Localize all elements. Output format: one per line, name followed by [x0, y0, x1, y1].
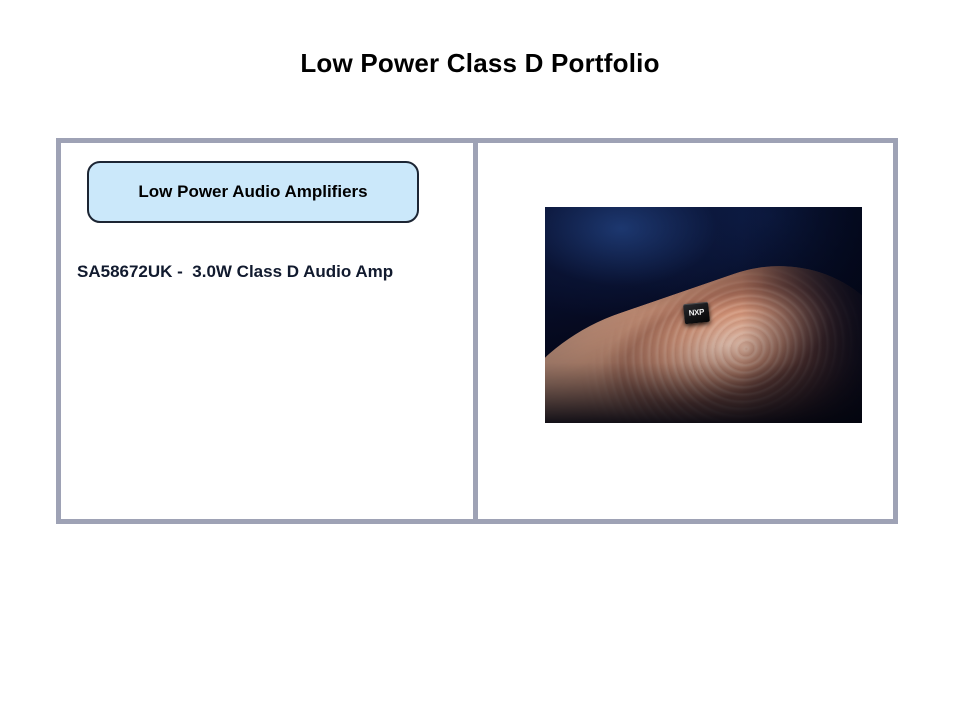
category-pill-label: Low Power Audio Amplifiers [138, 182, 367, 202]
nxp-logo: NXP [688, 308, 704, 318]
product-photo: NXP [545, 207, 862, 423]
category-pill-low-power-audio-amplifiers[interactable]: Low Power Audio Amplifiers [87, 161, 419, 223]
product-list-item: SA58672UK - 3.0W Class D Audio Amp [77, 262, 467, 282]
page-title: Low Power Class D Portfolio [0, 48, 960, 79]
right-panel: NXP [478, 143, 893, 519]
left-panel: Low Power Audio Amplifiers SA58672UK - 3… [61, 143, 473, 519]
chip-package: NXP [683, 302, 710, 325]
